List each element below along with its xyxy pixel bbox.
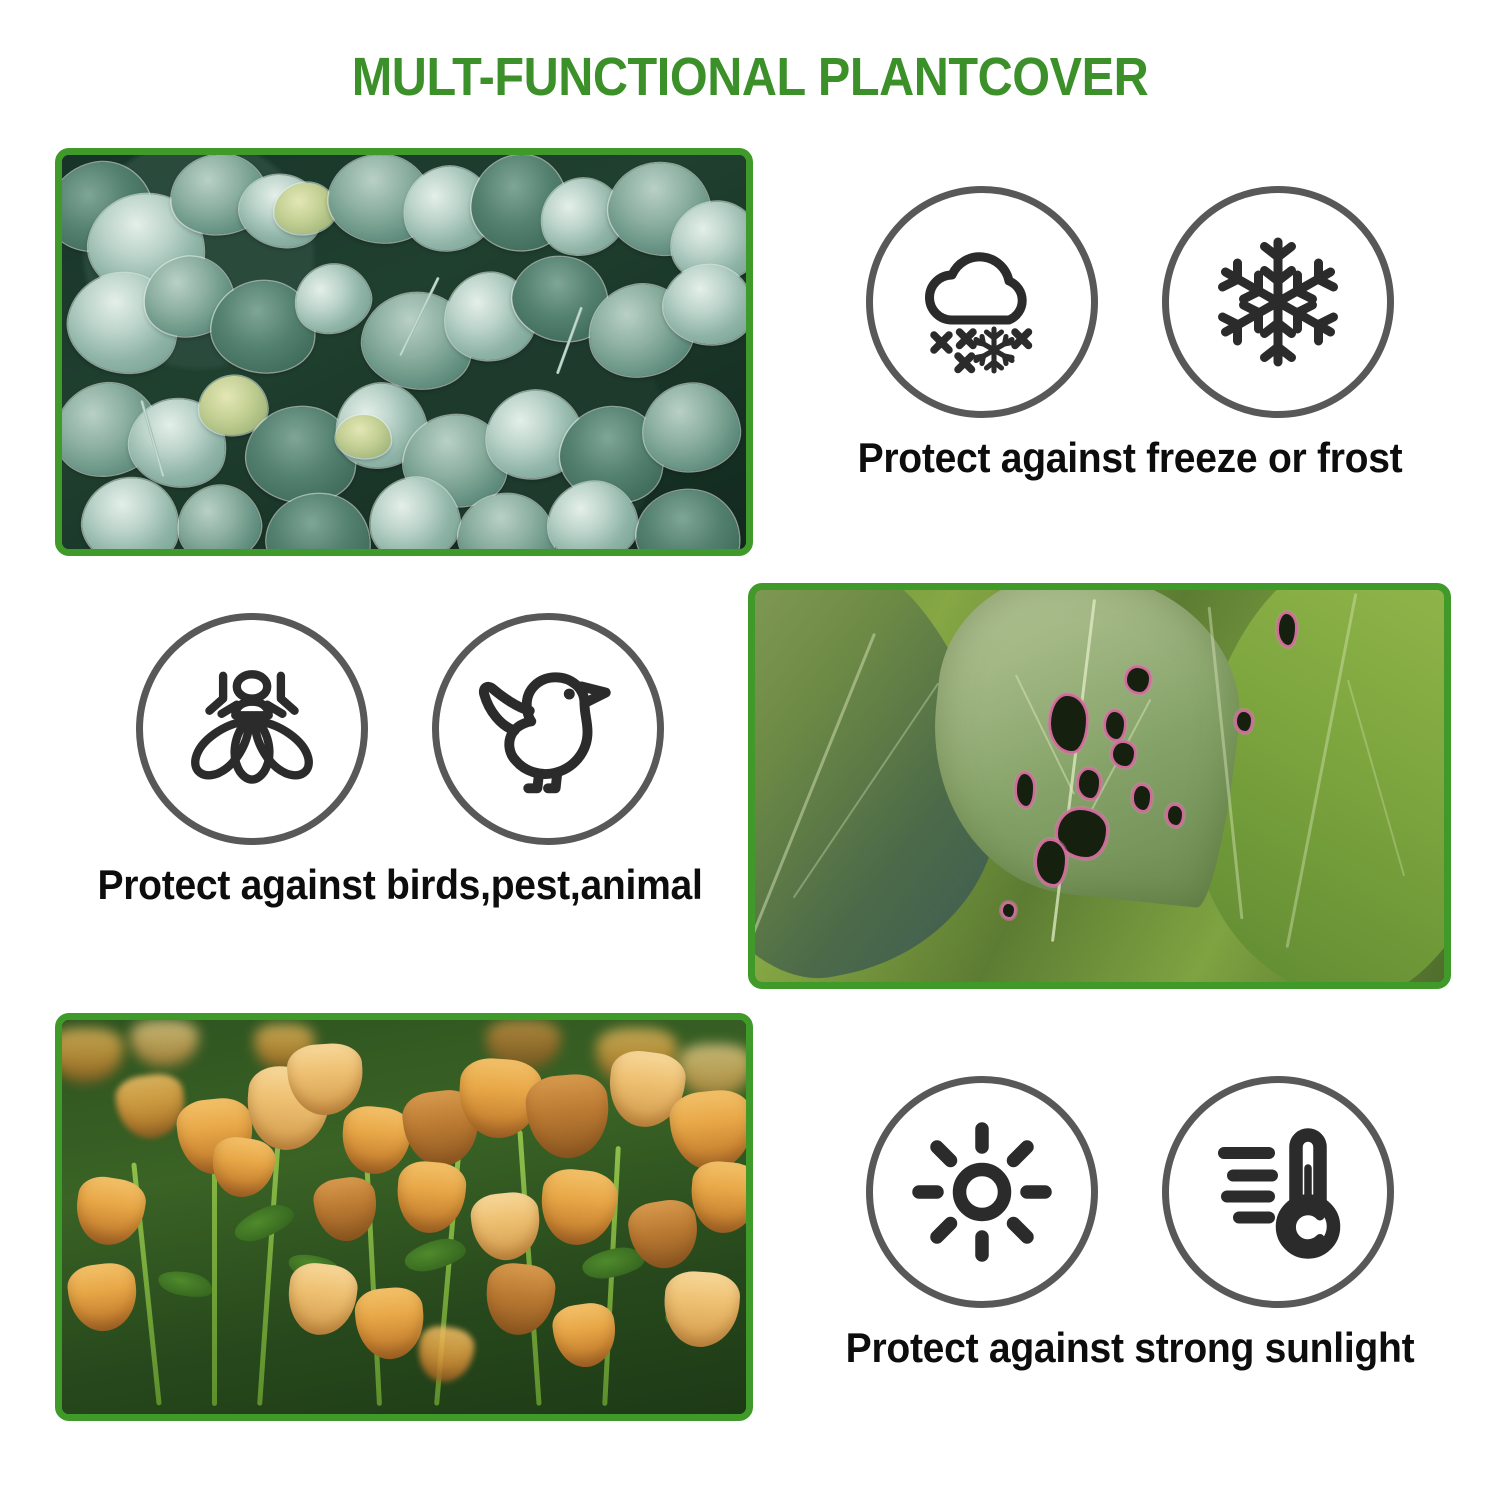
frost-covered-plants-photo xyxy=(55,148,753,556)
page-title: MULT-FUNCTIONAL PLANTCOVER xyxy=(75,46,1425,108)
cloud-snow-icon xyxy=(866,186,1098,418)
feature-sun: Protect against strong sunlight xyxy=(790,1076,1470,1372)
snowflake-icon xyxy=(1162,186,1394,418)
feature-caption-sun: Protect against strong sunlight xyxy=(814,1324,1446,1372)
feature-pests: Protect against birds,pest,animal xyxy=(60,613,740,909)
feature-caption-pests: Protect against birds,pest,animal xyxy=(84,861,716,909)
feature-caption-freeze: Protect against freeze or frost xyxy=(814,434,1446,482)
pest-damaged-leaf-photo xyxy=(748,583,1451,989)
fly-insect-icon xyxy=(136,613,368,845)
feature-freeze: Protect against freeze or frost xyxy=(790,186,1470,482)
sun-icon xyxy=(866,1076,1098,1308)
infographic-page: MULT-FUNCTIONAL PLANTCOVER xyxy=(0,0,1500,1500)
wilted-flowers-photo xyxy=(55,1013,753,1421)
bird-icon xyxy=(432,613,664,845)
thermometer-icon xyxy=(1162,1076,1394,1308)
